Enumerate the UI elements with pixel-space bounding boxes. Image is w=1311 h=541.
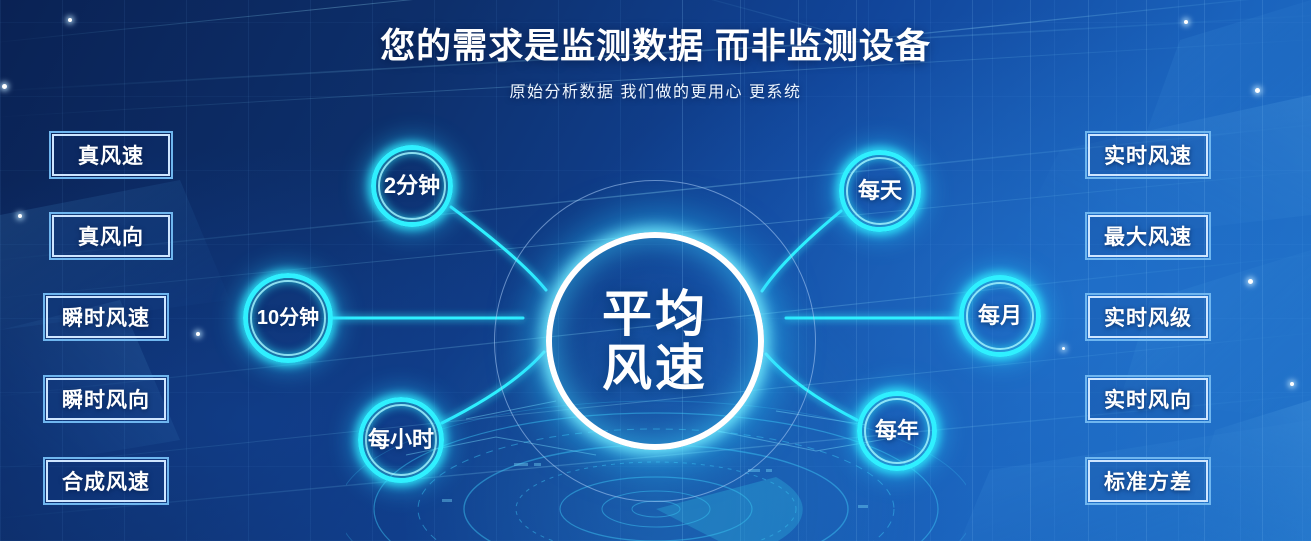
frame-edge-right xyxy=(1209,476,1211,486)
frame-edge-bottom xyxy=(68,177,154,179)
frame-edge-top xyxy=(68,131,154,133)
corner-bracket-tr xyxy=(147,212,173,238)
tag-label: 瞬时风速 xyxy=(62,302,150,332)
node-circle[interactable]: 2分钟 xyxy=(371,145,453,227)
frame-edge-top xyxy=(1104,293,1192,295)
corner-bracket-bl xyxy=(49,153,75,179)
frame-edge-top xyxy=(1104,457,1192,459)
hub-label-line1: 平均 xyxy=(602,287,708,341)
corner-bracket-tr xyxy=(1185,375,1211,401)
frame-edge-left xyxy=(49,231,51,241)
corner-bracket-bl xyxy=(1085,397,1111,423)
frame-edge-bottom xyxy=(62,503,150,505)
frame-edge-right xyxy=(1209,150,1211,160)
frame-edge-left xyxy=(1085,312,1087,322)
tag-right-2[interactable]: 实时风级 xyxy=(1088,296,1208,338)
ambient-dot xyxy=(1062,347,1065,350)
tag-left-0[interactable]: 真风速 xyxy=(52,134,170,176)
frame-edge-bottom xyxy=(1104,503,1192,505)
frame-edge-right xyxy=(171,231,173,241)
corner-bracket-bl xyxy=(43,397,69,423)
frame-edge-right xyxy=(1209,312,1211,322)
hub-label-line2: 风速 xyxy=(602,341,708,395)
tag-right-3[interactable]: 实时风向 xyxy=(1088,378,1208,420)
corner-bracket-bl xyxy=(49,234,75,260)
page-title: 您的需求是监测数据 而非监测设备 xyxy=(0,18,1311,69)
frame-edge-right xyxy=(167,312,169,322)
frame-edge-right xyxy=(167,476,169,486)
node-circle[interactable]: 每天 xyxy=(839,150,921,232)
frame-edge-left xyxy=(43,476,45,486)
ambient-dot xyxy=(196,332,200,336)
node-label: 2分钟 xyxy=(384,174,440,199)
corner-bracket-bl xyxy=(1085,234,1111,260)
frame-edge-left xyxy=(43,394,45,404)
frame-edge-bottom xyxy=(68,258,154,260)
tag-label: 真风向 xyxy=(78,221,144,251)
corner-bracket-tr xyxy=(1185,131,1211,157)
tag-left-1[interactable]: 真风向 xyxy=(52,215,170,257)
hub-label: 平均 风速 xyxy=(602,287,708,395)
tag-left-4[interactable]: 合成风速 xyxy=(46,460,166,502)
frame-edge-right xyxy=(1209,231,1211,241)
tag-right-4[interactable]: 标准方差 xyxy=(1088,460,1208,502)
frame-edge-left xyxy=(1085,394,1087,404)
frame-edge-top xyxy=(68,212,154,214)
frame-edge-right xyxy=(167,394,169,404)
node-circle[interactable]: 每月 xyxy=(959,275,1041,357)
ambient-dot xyxy=(18,214,22,218)
tag-right-1[interactable]: 最大风速 xyxy=(1088,215,1208,257)
frame-edge-top xyxy=(1104,212,1192,214)
frame-edge-top xyxy=(62,293,150,295)
corner-bracket-tr xyxy=(1185,293,1211,319)
frame-edge-top xyxy=(62,375,150,377)
tag-left-2[interactable]: 瞬时风速 xyxy=(46,296,166,338)
node-label: 10分钟 xyxy=(257,307,319,329)
node-label: 每小时 xyxy=(368,428,434,453)
tag-label: 实时风向 xyxy=(1104,384,1192,414)
frame-edge-left xyxy=(49,150,51,160)
tag-label: 瞬时风向 xyxy=(62,384,150,414)
corner-bracket-tr xyxy=(1185,212,1211,238)
corner-bracket-bl xyxy=(43,315,69,341)
frame-edge-bottom xyxy=(1104,339,1192,341)
frame-edge-left xyxy=(1085,476,1087,486)
tag-label: 最大风速 xyxy=(1104,221,1192,251)
ambient-dot xyxy=(1248,279,1253,284)
tag-right-0[interactable]: 实时风速 xyxy=(1088,134,1208,176)
corner-bracket-tr xyxy=(143,375,169,401)
infographic-canvas: 您的需求是监测数据 而非监测设备 原始分析数据 我们做的更用心 更系统 平均 风… xyxy=(0,0,1311,541)
corner-bracket-tr xyxy=(143,293,169,319)
corner-bracket-bl xyxy=(43,479,69,505)
hub-average-wind-speed[interactable]: 平均 风速 xyxy=(546,232,764,450)
tag-left-3[interactable]: 瞬时风向 xyxy=(46,378,166,420)
tag-label: 真风速 xyxy=(78,140,144,170)
ambient-dot xyxy=(1290,382,1294,386)
corner-bracket-bl xyxy=(1085,479,1111,505)
corner-bracket-tr xyxy=(147,131,173,157)
node-circle[interactable]: 每小时 xyxy=(358,397,444,483)
node-circle[interactable]: 10分钟 xyxy=(243,273,333,363)
frame-edge-right xyxy=(171,150,173,160)
page-subtitle: 原始分析数据 我们做的更用心 更系统 xyxy=(0,78,1311,102)
node-label: 每年 xyxy=(875,419,919,444)
frame-edge-left xyxy=(43,312,45,322)
frame-edge-bottom xyxy=(62,339,150,341)
frame-edge-left xyxy=(1085,150,1087,160)
corner-bracket-bl xyxy=(1085,315,1111,341)
node-circle[interactable]: 每年 xyxy=(857,391,937,471)
frame-edge-left xyxy=(1085,231,1087,241)
tag-label: 合成风速 xyxy=(62,466,150,496)
corner-bracket-tr xyxy=(143,457,169,483)
node-label: 每天 xyxy=(858,179,902,204)
frame-edge-right xyxy=(1209,394,1211,404)
tag-label: 标准方差 xyxy=(1104,466,1192,496)
frame-edge-bottom xyxy=(1104,421,1192,423)
frame-edge-bottom xyxy=(62,421,150,423)
node-label: 每月 xyxy=(978,304,1022,329)
tag-label: 实时风级 xyxy=(1104,302,1192,332)
corner-bracket-bl xyxy=(1085,153,1111,179)
frame-edge-bottom xyxy=(1104,177,1192,179)
frame-edge-top xyxy=(1104,375,1192,377)
frame-edge-bottom xyxy=(1104,258,1192,260)
frame-edge-top xyxy=(62,457,150,459)
tag-label: 实时风速 xyxy=(1104,140,1192,170)
frame-edge-top xyxy=(1104,131,1192,133)
corner-bracket-tr xyxy=(1185,457,1211,483)
